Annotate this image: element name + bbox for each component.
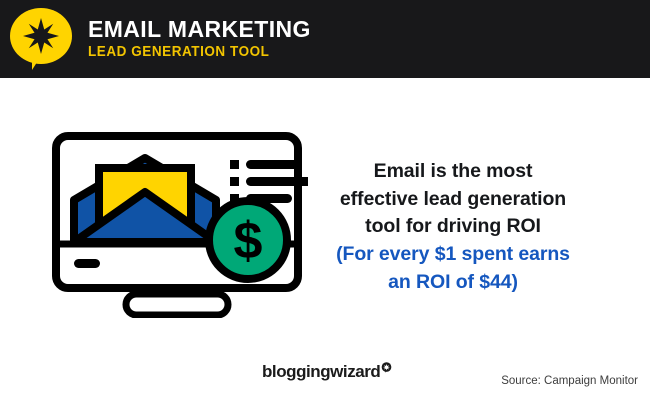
page-subtitle: LEAD GENERATION TOOL: [88, 45, 295, 61]
source-attribution: Source: Campaign Monitor: [501, 376, 638, 388]
dollar-coin-icon: $: [209, 201, 287, 279]
brand-name: bloggingwizard: [262, 363, 380, 380]
power-dash-icon: [74, 259, 100, 268]
page-title: EMAIL MARKETING: [88, 17, 311, 41]
brand-footer[interactable]: bloggingwizard: [262, 363, 392, 380]
monitor-base-icon: [126, 294, 228, 315]
brand-badge: [381, 360, 392, 371]
star-icon: [23, 18, 59, 54]
dollar-symbol-icon: $: [234, 212, 263, 270]
speech-bubble-star-icon: [381, 362, 392, 373]
headline-line-3: tool for driving ROI: [312, 213, 594, 241]
open-envelope-icon: [74, 158, 216, 242]
infographic-canvas: EMAIL MARKETING LEAD GENERATION TOOL: [0, 0, 650, 400]
subline-line-2: an ROI of $44): [312, 269, 594, 297]
message-block: Email is the most effective lead generat…: [312, 158, 594, 296]
email-roi-illustration: $: [52, 132, 308, 318]
brand-logo: [10, 8, 72, 70]
header-bar: EMAIL MARKETING LEAD GENERATION TOOL: [0, 0, 650, 78]
headline-line-1: Email is the most: [312, 158, 594, 186]
header-text-group: EMAIL MARKETING LEAD GENERATION TOOL: [88, 17, 311, 60]
subline-line-1: (For every $1 spent earns: [312, 241, 594, 269]
headline-line-2: effective lead generation: [312, 186, 594, 214]
